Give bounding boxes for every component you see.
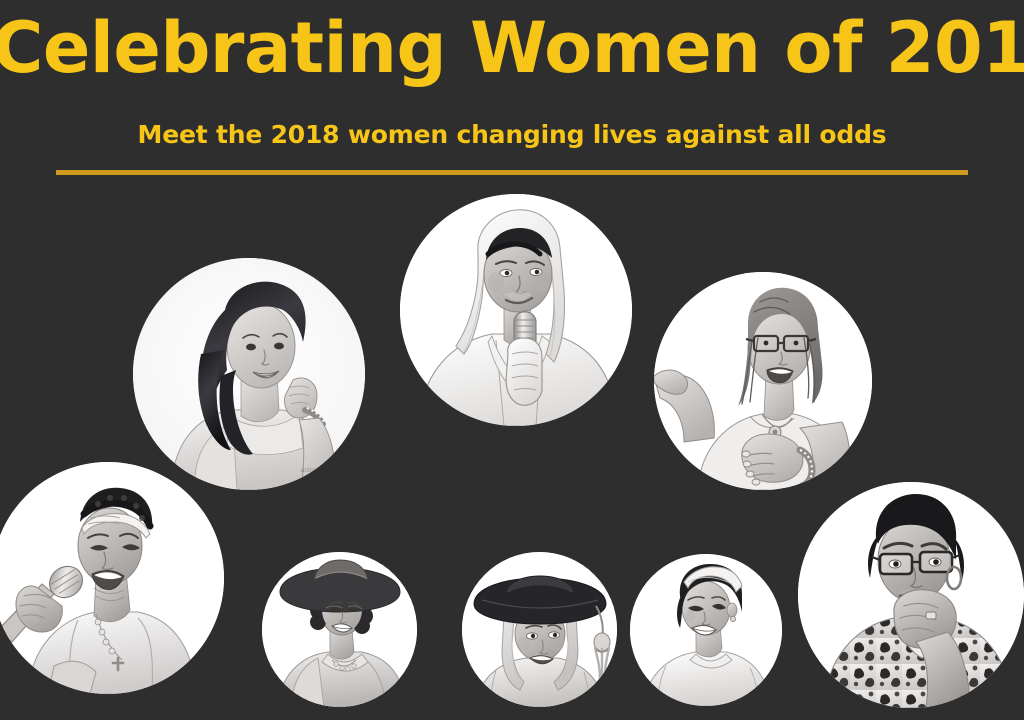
poster-canvas: Celebrating Women of 2018 Meet the 2018 …	[0, 0, 1024, 720]
portrait-sketch-4	[0, 462, 224, 694]
portrait-circle-4[interactable]	[0, 462, 224, 694]
header: Celebrating Women of 2018 Meet the 2018 …	[0, 0, 1024, 190]
portrait-circle-8[interactable]	[798, 482, 1024, 708]
portrait-sketch-8	[798, 482, 1024, 708]
header-divider	[56, 170, 968, 175]
portrait-circle-3[interactable]	[654, 272, 872, 490]
portrait-circle-2[interactable]	[400, 194, 632, 426]
page-subtitle: Meet the 2018 women changing lives again…	[0, 118, 1024, 152]
svg-text:artist: artist	[301, 466, 317, 474]
portrait-circle-1[interactable]: artist	[133, 258, 365, 490]
portrait-sketch-3	[654, 272, 872, 490]
page-title: Celebrating Women of 2018	[0, 6, 1024, 90]
portrait-sketch-7	[630, 554, 782, 706]
portrait-sketch-1: artist	[133, 258, 365, 490]
portrait-circle-5[interactable]	[262, 552, 417, 707]
portrait-sketch-6	[462, 552, 617, 707]
portrait-sketch-5	[262, 552, 417, 707]
portrait-circle-6[interactable]	[462, 552, 617, 707]
portrait-circle-7[interactable]	[630, 554, 782, 706]
portrait-sketch-2	[400, 194, 632, 426]
